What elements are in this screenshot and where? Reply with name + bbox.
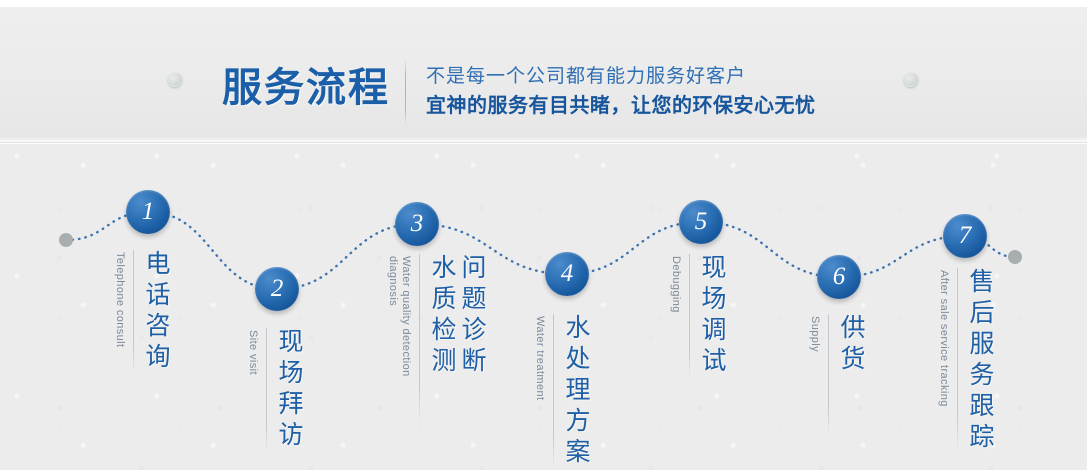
- flow-step-label-2: Site visit现场拜访: [246, 328, 304, 452]
- screw-dot-left-icon: [168, 73, 182, 87]
- header-divider: [405, 59, 406, 125]
- flow-step-label-en-3: Water quality detection diagnosis: [386, 254, 412, 424]
- subtitle-line-2: 宜神的服务有目共睹，让您的环保安心无忧: [426, 92, 816, 120]
- flow-step-node-2[interactable]: 2: [255, 267, 299, 311]
- flow-step-label-cn-group-2: 现场拜访: [274, 328, 304, 452]
- flow-step-label-7: After sale service tracking售后服务跟踪: [937, 268, 995, 454]
- service-process-banner: 服务流程 不是每一个公司都有能力服务好客户 宜神的服务有目共睹，让您的环保安心无…: [0, 0, 1087, 475]
- process-flow: 1234567 Telephone consult电话咨询Site visit现…: [0, 142, 1087, 475]
- flow-step-node-6[interactable]: 6: [817, 255, 861, 299]
- flow-step-label-cn-secondary-3: 水质检测: [427, 254, 457, 378]
- flow-step-label-divider-7: [957, 268, 958, 454]
- flow-step-label-cn-1: 电话咨询: [141, 250, 171, 374]
- flow-step-label-divider-1: [133, 250, 134, 374]
- flow-step-node-1[interactable]: 1: [126, 190, 170, 234]
- flow-step-label-divider-6: [828, 314, 829, 434]
- flow-step-label-divider-5: [689, 254, 690, 378]
- subtitle-line-1: 不是每一个公司都有能力服务好客户: [426, 63, 816, 90]
- flow-step-label-cn-4: 水处理方案: [561, 314, 591, 469]
- flow-end-dot-icon: [1008, 250, 1022, 264]
- flow-step-label-cn-5: 现场调试: [697, 254, 727, 378]
- bottom-white-edge: [0, 470, 1087, 475]
- flow-step-label-6: Supply供货: [808, 314, 866, 434]
- flow-step-label-3: Water quality detection diagnosis问题诊断水质检…: [386, 254, 487, 424]
- flow-step-label-divider-2: [266, 328, 267, 452]
- flow-step-label-en-6: Supply: [808, 314, 821, 352]
- header-band: 服务流程 不是每一个公司都有能力服务好客户 宜神的服务有目共睹，让您的环保安心无…: [0, 7, 1087, 143]
- page-title: 服务流程: [222, 55, 390, 113]
- flow-step-label-cn-group-6: 供货: [836, 314, 866, 376]
- flow-step-label-4: Water treatment水处理方案: [533, 314, 591, 469]
- header-subtitle: 不是每一个公司都有能力服务好客户 宜神的服务有目共睹，让您的环保安心无忧: [426, 63, 816, 120]
- flow-step-node-4[interactable]: 4: [545, 252, 589, 296]
- flow-step-label-en-7: After sale service tracking: [937, 268, 950, 407]
- screw-dot-right-icon: [904, 73, 918, 87]
- top-white-edge: [0, 0, 1087, 7]
- flow-step-label-en-1: Telephone consult: [113, 250, 126, 347]
- flow-step-label-cn-6: 供货: [836, 314, 866, 376]
- flow-step-label-cn-group-5: 现场调试: [697, 254, 727, 378]
- flow-step-label-divider-3: [419, 254, 420, 424]
- flow-step-label-cn-3: 问题诊断: [457, 254, 487, 378]
- flow-step-node-7[interactable]: 7: [943, 214, 987, 258]
- flow-step-label-cn-group-1: 电话咨询: [141, 250, 171, 374]
- flow-step-label-en-2: Site visit: [246, 328, 259, 375]
- flow-step-label-en-4: Water treatment: [533, 314, 546, 400]
- flow-start-dot-icon: [59, 233, 73, 247]
- flow-step-label-cn-7: 售后服务跟踪: [965, 268, 995, 454]
- flow-step-node-3[interactable]: 3: [395, 202, 439, 246]
- flow-step-label-en-5: Debugging: [669, 254, 682, 313]
- flow-step-label-cn-2: 现场拜访: [274, 328, 304, 452]
- flow-step-label-divider-4: [553, 314, 554, 469]
- flow-step-label-cn-group-4: 水处理方案: [561, 314, 591, 469]
- flow-step-label-1: Telephone consult电话咨询: [113, 250, 171, 374]
- flow-step-label-5: Debugging现场调试: [669, 254, 727, 378]
- flow-step-label-cn-group-7: 售后服务跟踪: [965, 268, 995, 454]
- flow-step-node-5[interactable]: 5: [679, 200, 723, 244]
- flow-step-label-cn-group-3: 问题诊断水质检测: [427, 254, 487, 378]
